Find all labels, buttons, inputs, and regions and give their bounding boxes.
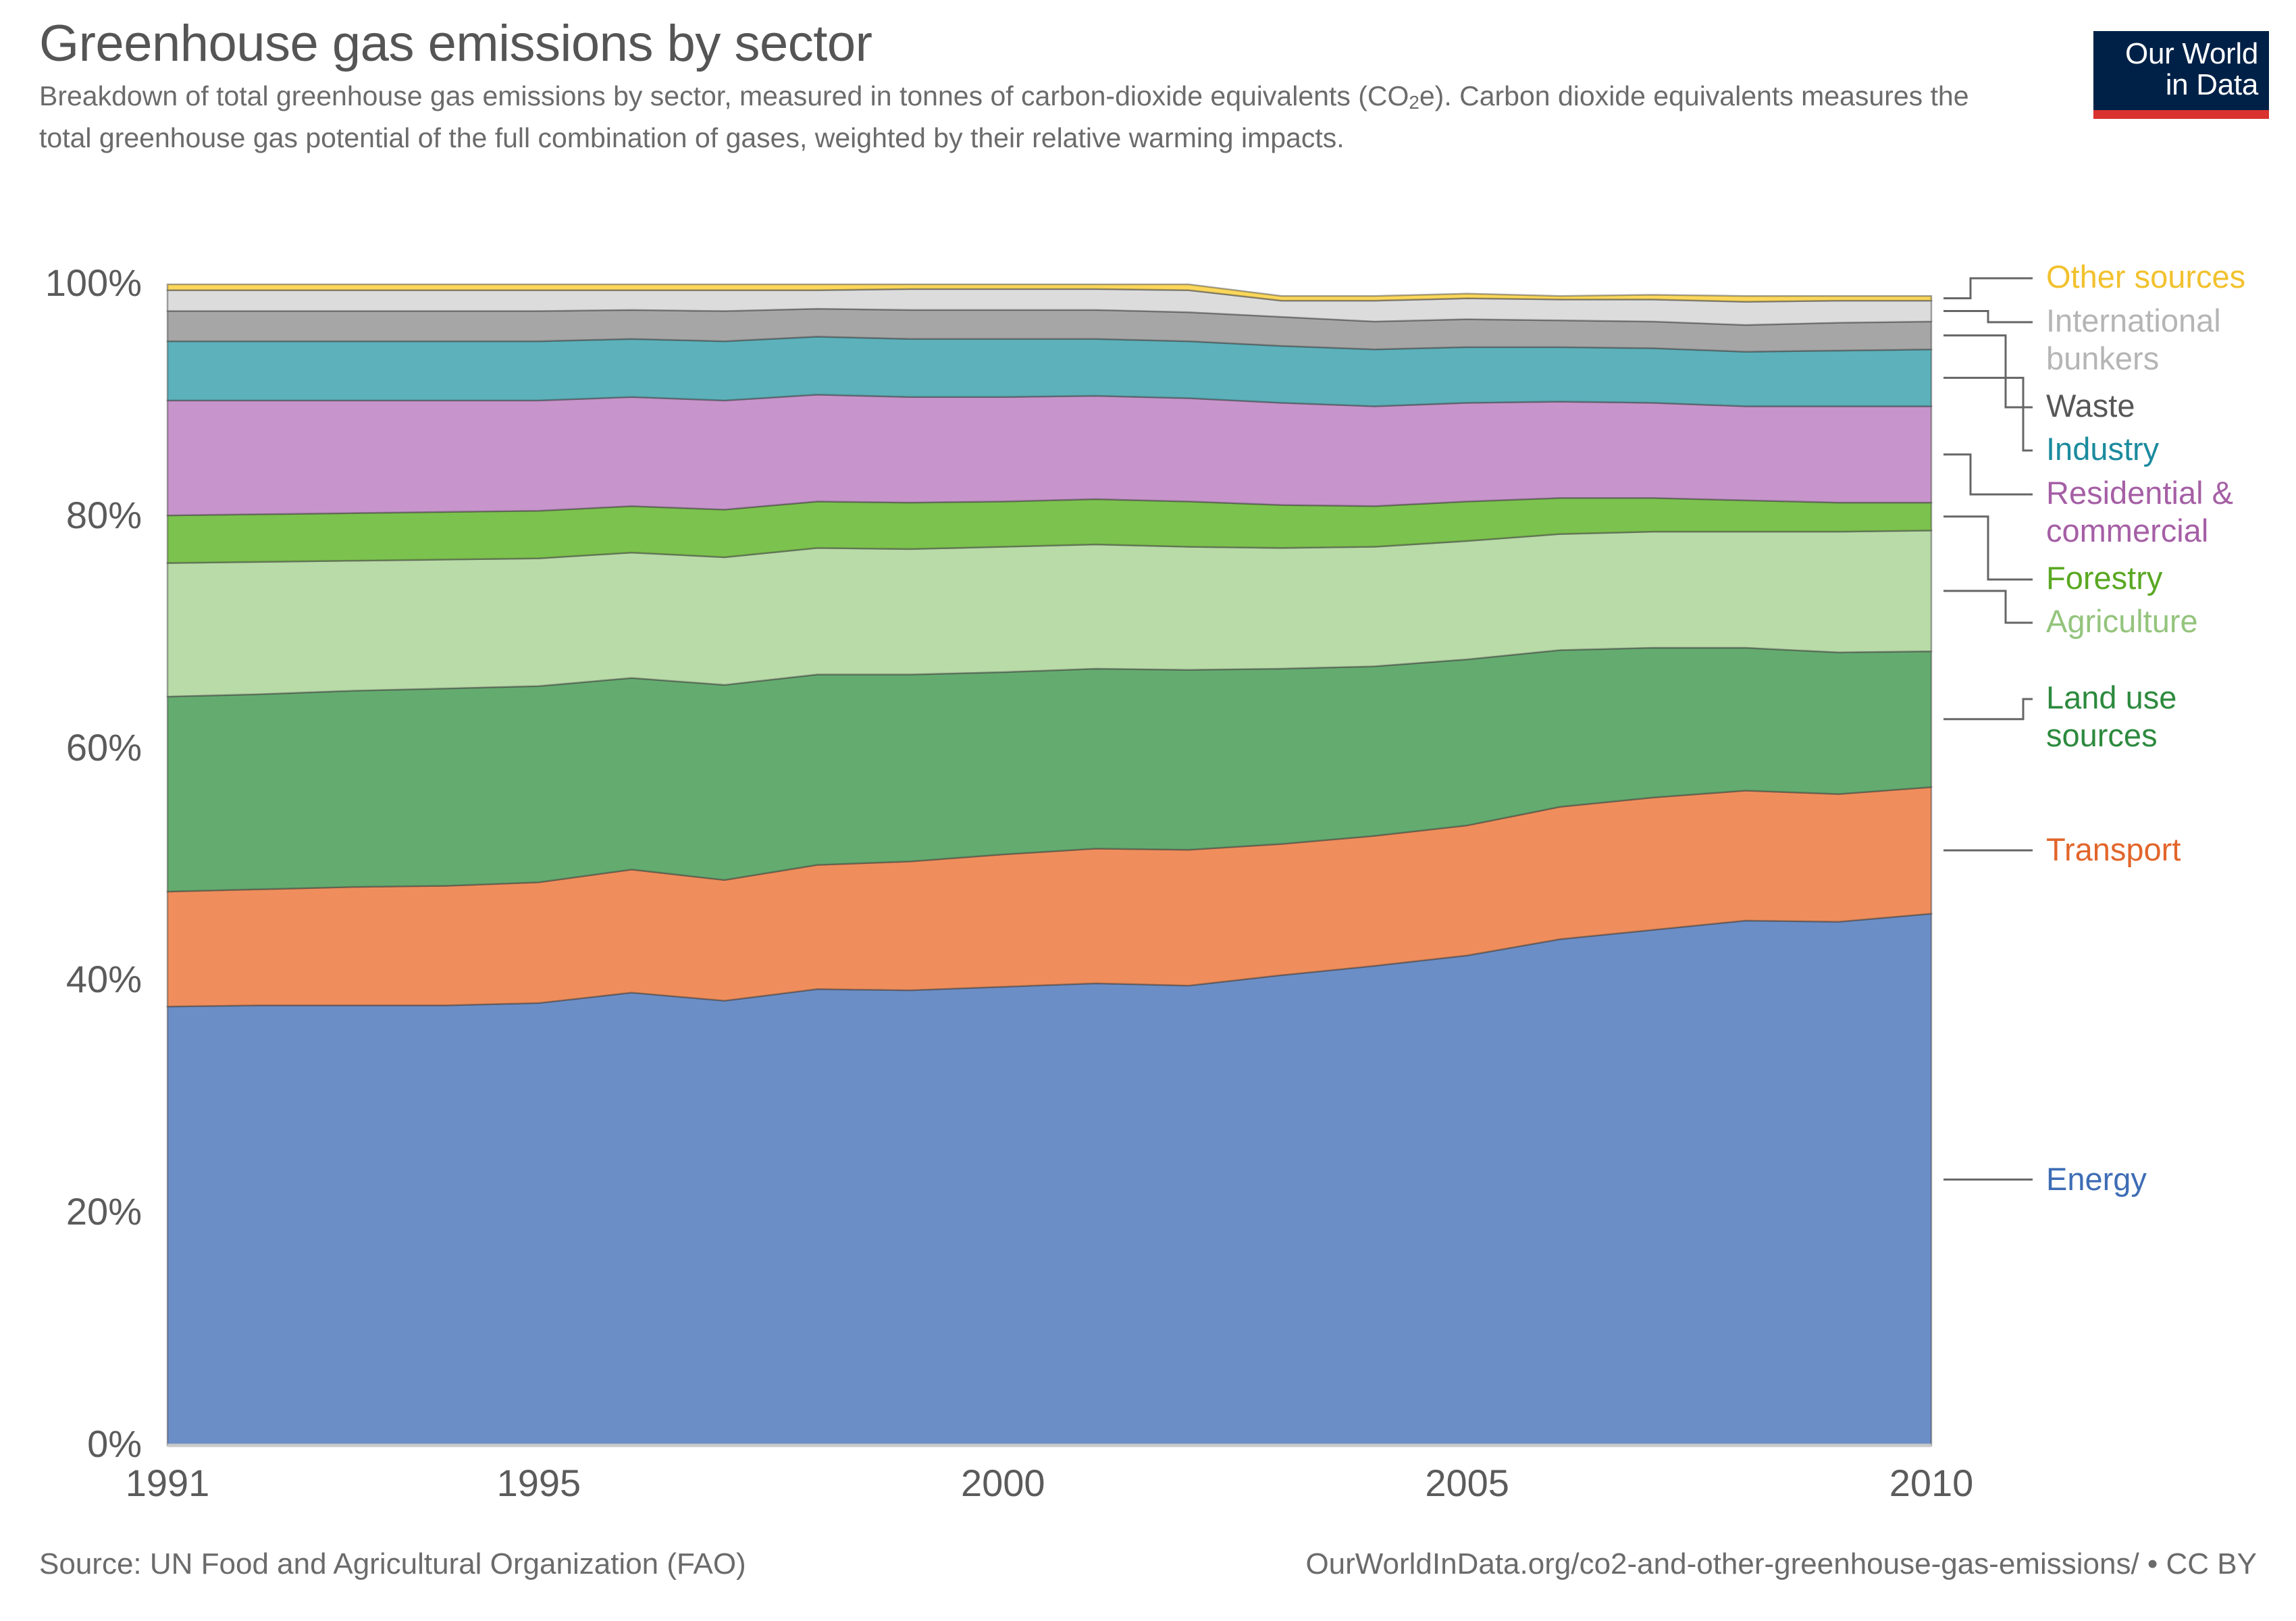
legend-item-agriculture[interactable]: Agriculture bbox=[2046, 602, 2198, 640]
x-tick-label: 2005 bbox=[1366, 1464, 1569, 1502]
legend-leader-lines bbox=[1943, 278, 2033, 1179]
legend-leader-line bbox=[1943, 336, 2033, 407]
legend-leader-line bbox=[1943, 378, 2033, 451]
y-tick-label: 60% bbox=[20, 729, 142, 767]
x-tick-label: 1995 bbox=[438, 1464, 640, 1502]
legend-item-international-bunkers[interactable]: International bunkers bbox=[2046, 302, 2221, 378]
legend-item-forestry[interactable]: Forestry bbox=[2046, 559, 2162, 597]
legend-leader-line bbox=[1943, 278, 2033, 299]
plot-area: 0%20%40%60%80%100% 19911995200020052010 … bbox=[0, 0, 2296, 1621]
area-series-group[interactable] bbox=[167, 284, 1931, 1445]
legend-leader-line bbox=[1943, 591, 2033, 623]
x-tick-label: 1991 bbox=[66, 1464, 269, 1502]
y-tick-label: 40% bbox=[20, 960, 142, 998]
source-note: Source: UN Food and Agricultural Organiz… bbox=[39, 1547, 746, 1582]
x-tick-label: 2010 bbox=[1830, 1464, 2033, 1502]
legend-item-land-use-sources[interactable]: Land use sources bbox=[2046, 679, 2176, 754]
area-residential-commercial[interactable] bbox=[167, 394, 1931, 515]
attribution-link[interactable]: OurWorldInData.org/co2-and-other-greenho… bbox=[1305, 1547, 2257, 1582]
legend-item-industry[interactable]: Industry bbox=[2046, 430, 2159, 468]
y-tick-label: 20% bbox=[20, 1193, 142, 1231]
legend-item-other-sources[interactable]: Other sources bbox=[2046, 258, 2245, 296]
legend-item-residential-commercial[interactable]: Residential & commercial bbox=[2046, 474, 2233, 550]
legend-item-energy[interactable]: Energy bbox=[2046, 1160, 2147, 1198]
legend-leader-line bbox=[1943, 699, 2033, 719]
y-tick-label: 0% bbox=[20, 1425, 142, 1463]
legend-item-waste[interactable]: Waste bbox=[2046, 387, 2135, 425]
legend-leader-line bbox=[1943, 517, 2033, 580]
chart-page: Greenhouse gas emissions by sector Break… bbox=[0, 0, 2296, 1621]
stacked-area-chart[interactable] bbox=[0, 0, 2296, 1621]
y-tick-label: 80% bbox=[20, 496, 142, 534]
legend-leader-line bbox=[1943, 311, 2033, 322]
y-tick-label: 100% bbox=[20, 264, 142, 302]
x-tick-label: 2000 bbox=[902, 1464, 1104, 1502]
legend-item-transport[interactable]: Transport bbox=[2046, 831, 2181, 869]
legend-leader-line bbox=[1943, 455, 2033, 494]
